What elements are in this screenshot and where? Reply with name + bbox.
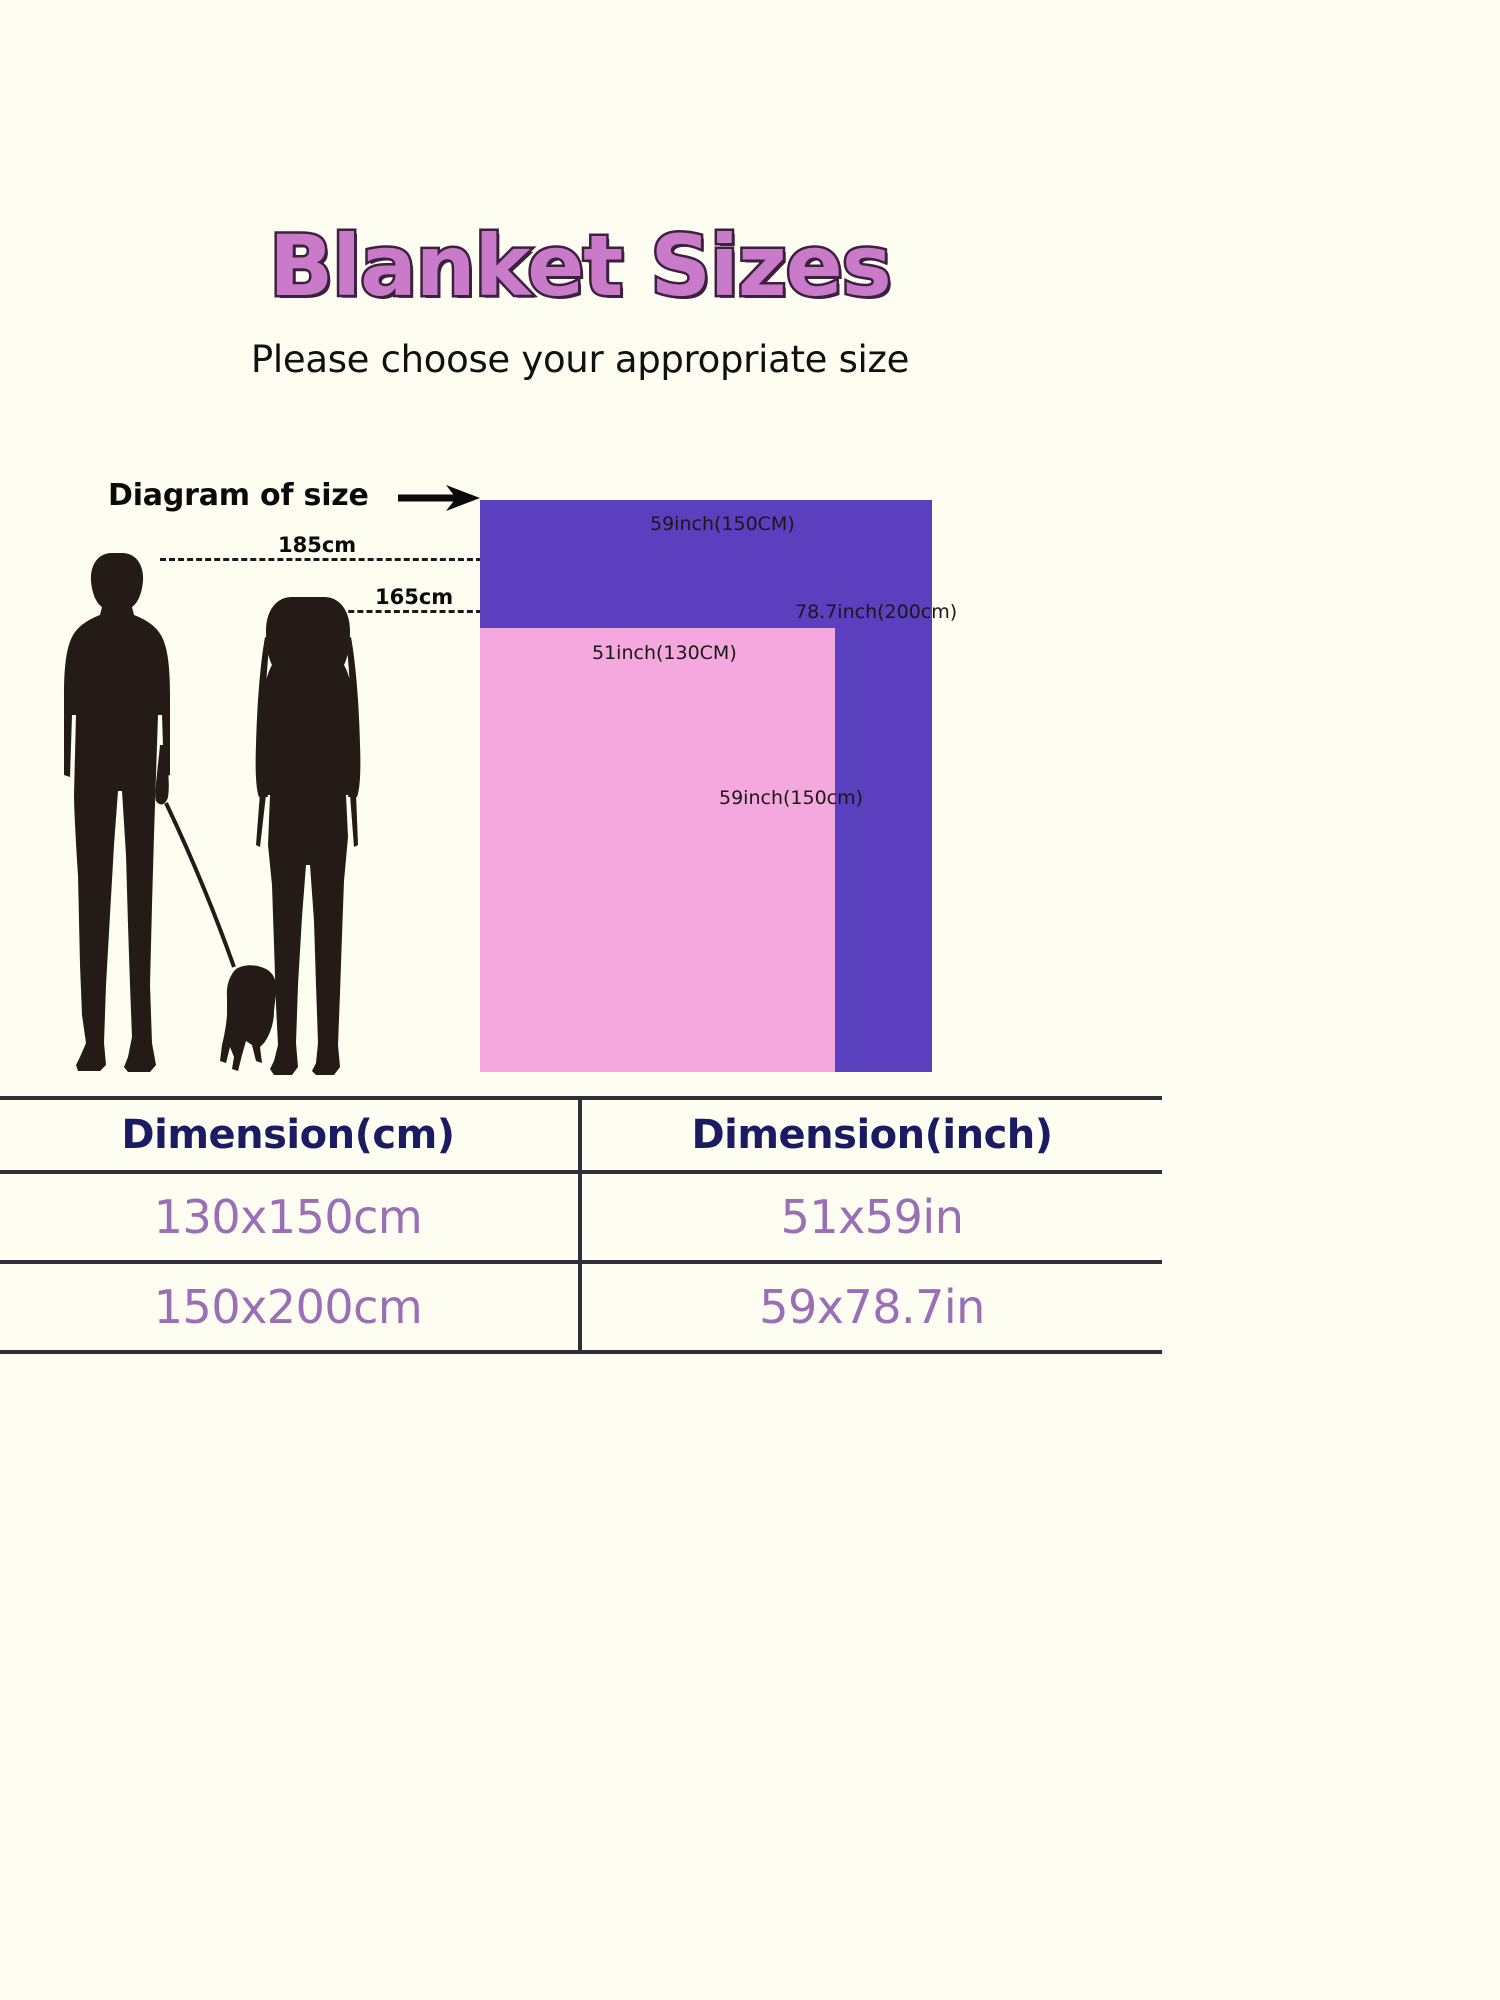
page-title-container: Blanket Sizes (0, 222, 1160, 310)
table-cell-inch-row2: 59x78.7in (578, 1260, 1162, 1354)
table-header-cm: Dimension(cm) (0, 1096, 582, 1174)
table-cell-cm-row1: 130x150cm (0, 1170, 582, 1264)
dog-silhouette (220, 965, 277, 1071)
blanket-small-height-label: 59inch(150cm) (719, 787, 863, 809)
people-silhouettes (60, 545, 480, 1075)
page-subtitle-container: Please choose your appropriate size (0, 338, 1160, 381)
blanket-rect-small (480, 628, 835, 1072)
dimension-table: Dimension(cm) Dimension(inch) 130x150cm … (0, 1098, 1160, 1368)
blanket-small-width-label: 51inch(130CM) (592, 642, 737, 664)
diagram-of-size-label: Diagram of size (108, 478, 369, 513)
page-subtitle: Please choose your appropriate size (251, 338, 909, 381)
right-arrow-icon (398, 485, 480, 511)
leash-line (166, 803, 234, 967)
man-silhouette (64, 553, 170, 1072)
page-title: Blanket Sizes (269, 222, 890, 310)
table-header-inch: Dimension(inch) (578, 1096, 1162, 1174)
table-row: 130x150cm 51x59in (0, 1172, 1160, 1262)
blanket-large-width-label: 59inch(150CM) (650, 513, 795, 535)
size-chart-page: Blanket Sizes Please choose your appropr… (0, 0, 1500, 2000)
table-cell-inch-row1: 51x59in (578, 1170, 1162, 1264)
table-row: 150x200cm 59x78.7in (0, 1262, 1160, 1352)
blanket-large-height-label: 78.7inch(200cm) (795, 601, 957, 623)
table-cell-cm-row2: 150x200cm (0, 1260, 582, 1354)
table-header-row: Dimension(cm) Dimension(inch) (0, 1098, 1160, 1172)
